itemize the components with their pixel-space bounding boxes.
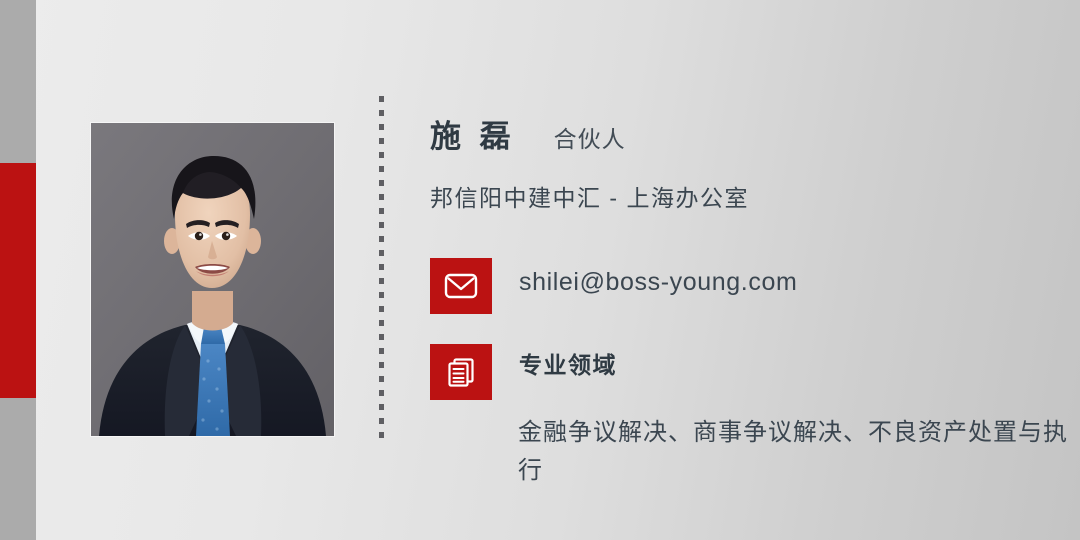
envelope-icon: [430, 258, 492, 314]
envelope-icon-glyph: [444, 273, 478, 299]
dotted-divider: [379, 96, 384, 444]
profile-photo: [91, 123, 334, 436]
practice-areas-title: 专业领域: [519, 354, 617, 377]
profile-photo-image: [91, 123, 334, 436]
details-column: 施 磊 合伙人 邦信阳中建中汇 - 上海办公室 shilei@boss-youn…: [430, 0, 1070, 540]
practice-areas-list: 金融争议解决、商事争议解决、不良资产处置与执行: [518, 414, 1078, 490]
documents-icon-glyph: [445, 356, 477, 388]
person-role: 合伙人: [554, 128, 626, 151]
person-name: 施 磊: [430, 121, 516, 152]
left-accent-rail-red-segment: [0, 163, 36, 398]
firm-and-office: 邦信阳中建中汇 - 上海办公室: [430, 185, 749, 213]
left-accent-rail: [0, 0, 36, 540]
documents-icon: [430, 344, 492, 400]
email-address[interactable]: shilei@boss-young.com: [519, 270, 797, 295]
name-row: 施 磊 合伙人: [430, 121, 626, 152]
business-card: 施 磊 合伙人 邦信阳中建中汇 - 上海办公室 shilei@boss-youn…: [0, 0, 1080, 540]
